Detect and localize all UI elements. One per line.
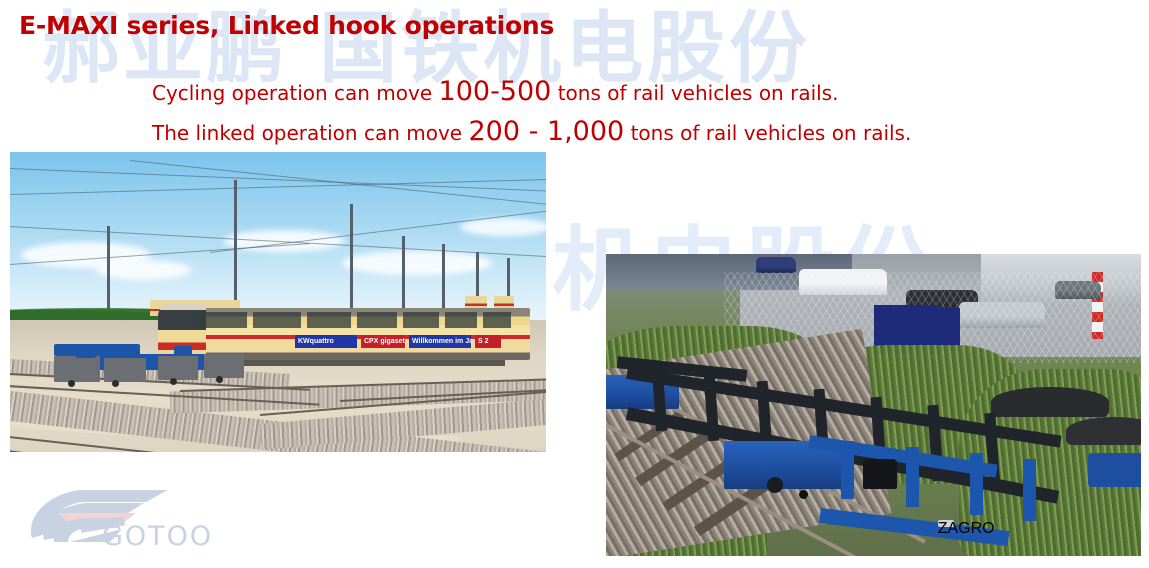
cloud — [96, 260, 191, 280]
body-line-1-emphasis: 100-500 — [439, 76, 552, 107]
tram-window — [253, 312, 301, 328]
cart-block — [104, 358, 146, 382]
rail-transporter-carts — [54, 344, 254, 390]
tram-window — [357, 312, 397, 328]
tram-window — [307, 312, 351, 328]
photo-rail-transporter: ZAGRO — [606, 254, 1141, 556]
slide-canvas: 郝亚鹏 国铁机电股份 国铁机电股份 E-MAXI series, Linked … — [0, 0, 1149, 568]
page-title: E-MAXI series, Linked hook operations — [19, 11, 554, 40]
cloud — [342, 251, 492, 275]
logo-gotoo: GOTOO — [18, 480, 228, 556]
cart-wheel — [170, 378, 177, 385]
blue-frame-strut — [906, 447, 919, 507]
body-line-2-suffix: tons of rail vehicles on rails. — [624, 121, 911, 145]
cart-block — [54, 356, 100, 382]
body-line-2-prefix: The linked operation can move — [152, 121, 468, 145]
tram-advert: KWquattro — [295, 335, 357, 348]
blue-equipment — [1088, 453, 1142, 487]
vehicle-marking: ZAGRO — [938, 520, 954, 527]
cart-hook — [76, 348, 96, 358]
body-line-2-emphasis: 200 - 1,000 — [468, 116, 624, 147]
body-line-1-prefix: Cycling operation can move — [152, 81, 439, 105]
tram-advert-text: CPX gigaset — [361, 335, 405, 348]
blue-frame-strut — [841, 441, 854, 499]
cart-wheel — [216, 376, 223, 383]
parked-car — [756, 257, 796, 273]
wheel — [799, 490, 808, 499]
photo-tram-depot: KWquattro CPX gigaset Willkommen im Jahr… — [10, 152, 546, 452]
blue-frame-strut — [970, 453, 983, 515]
cart-beam — [54, 344, 140, 356]
blue-frame-strut — [1023, 459, 1036, 521]
wheel — [767, 477, 783, 493]
tram-window — [193, 312, 247, 328]
cart-wheel — [112, 380, 119, 387]
tram-advert-text: KWquattro — [295, 335, 357, 348]
tram-window — [445, 312, 477, 328]
cart-block — [204, 354, 244, 378]
body-line-1-suffix: tons of rail vehicles on rails. — [551, 81, 838, 105]
tram-advert: S 2 — [475, 335, 501, 348]
cart-block — [158, 356, 198, 380]
tram-advert: Willkommen im Jahr — [409, 335, 471, 348]
logo-text: GOTOO — [102, 521, 213, 552]
body-line-2: The linked operation can move 200 - 1,00… — [152, 116, 911, 147]
cart-wheel — [68, 380, 75, 387]
tram-advert-text: Willkommen im Jahr — [409, 335, 471, 348]
covered-object — [1066, 417, 1141, 445]
tram-window — [403, 312, 439, 328]
tram-advert-text: S 2 — [475, 335, 501, 348]
tram-advert: CPX gigaset — [361, 335, 405, 348]
operator-seat — [863, 459, 897, 489]
tram-window — [483, 312, 511, 328]
cart-hook — [174, 346, 192, 356]
body-line-1: Cycling operation can move 100-500 tons … — [152, 76, 838, 107]
